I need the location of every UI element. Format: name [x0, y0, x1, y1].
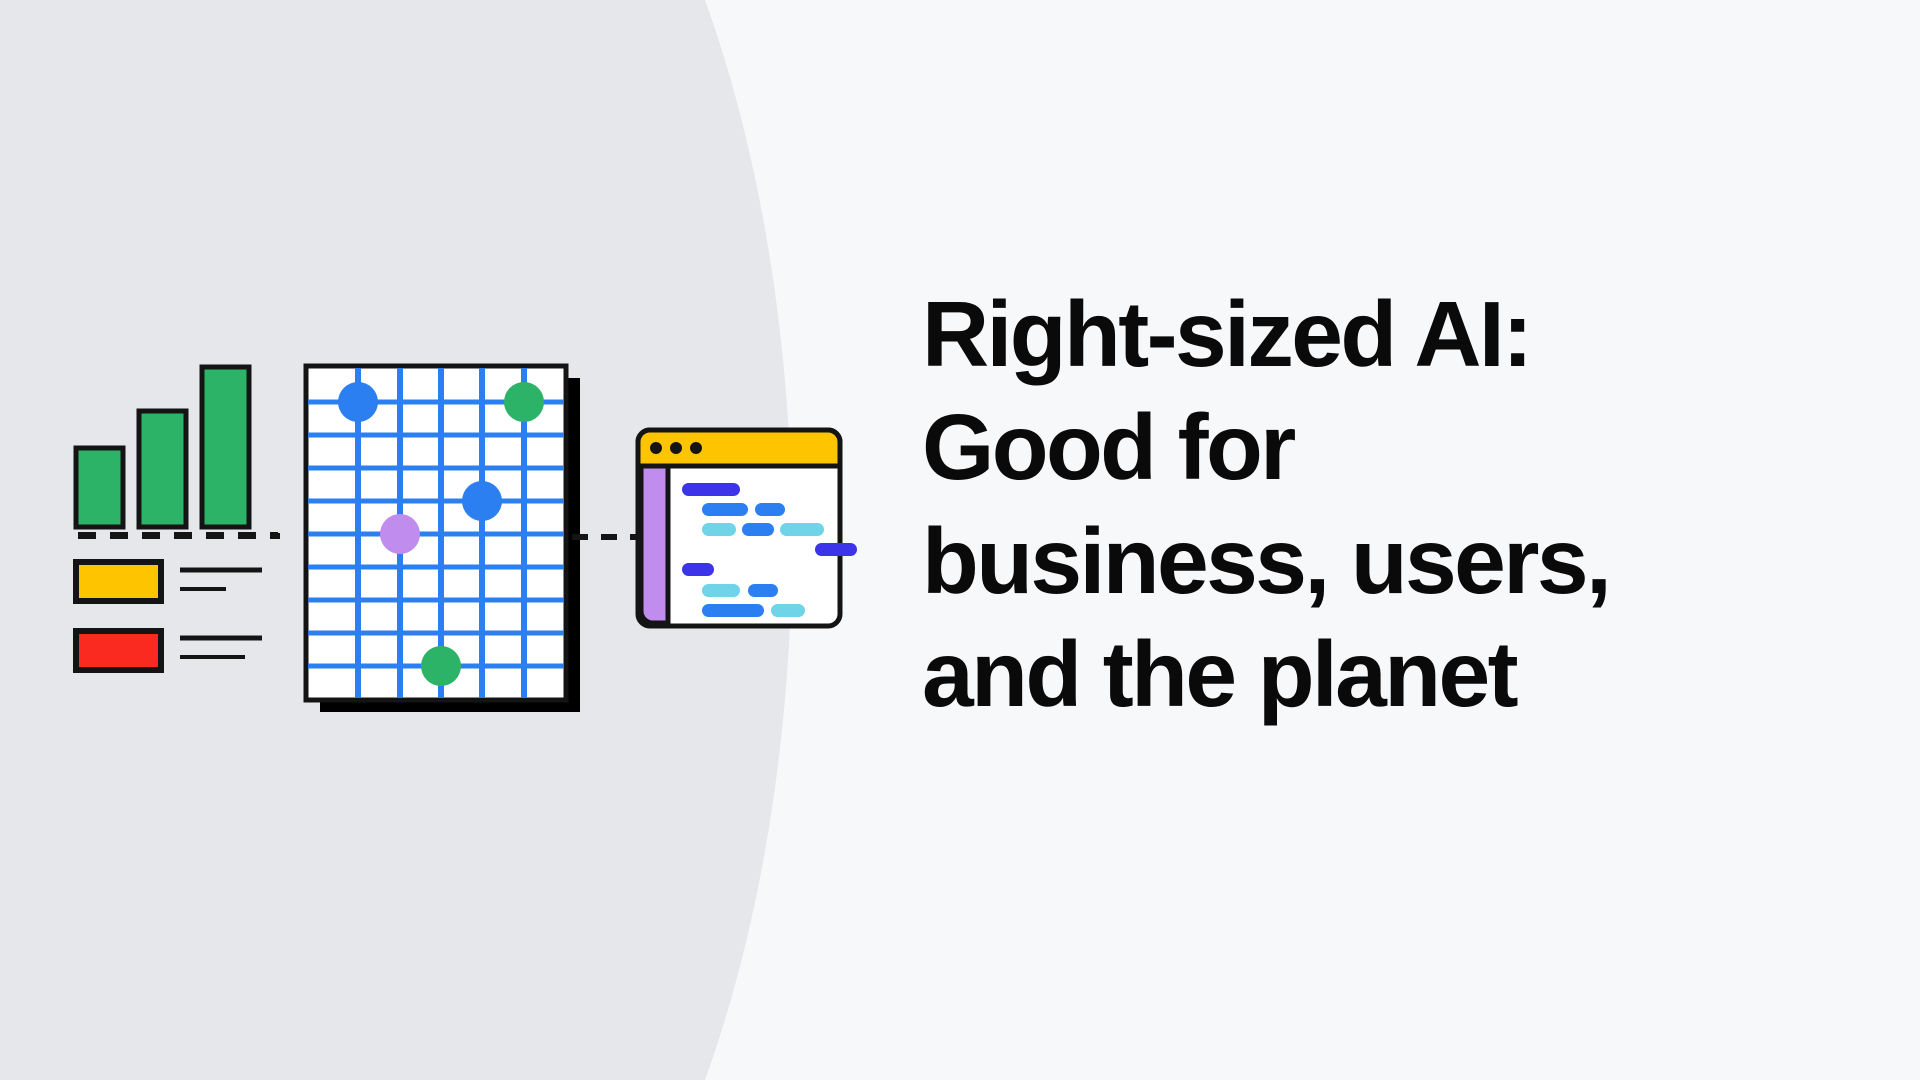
ai-efficiency-illustration: [0, 0, 880, 1080]
code-bar: [702, 584, 740, 597]
headline-line-1: Right-sized AI:: [922, 278, 1822, 391]
code-bar: [755, 503, 785, 516]
scatter-grid-card: [306, 366, 580, 712]
code-bar: [771, 604, 805, 617]
point-green-2: [421, 646, 461, 686]
code-bar: [780, 523, 824, 536]
bar-chart-bar-1: [76, 448, 123, 527]
bar-chart-bar-3: [202, 367, 249, 527]
headline-line-3: business, users,: [922, 505, 1822, 618]
code-bar: [702, 503, 748, 516]
code-bar: [742, 523, 774, 536]
window-dot-3[interactable]: [690, 442, 702, 454]
page-title: Right-sized AI: Good for business, users…: [922, 278, 1822, 732]
legend-item-yellow: [76, 562, 262, 601]
code-bar: [682, 483, 740, 496]
window-dot-1[interactable]: [650, 442, 662, 454]
point-blue-2: [462, 481, 502, 521]
window-title-bar: [638, 430, 840, 466]
code-bar: [702, 604, 764, 617]
code-bar: [748, 584, 778, 597]
window-sidebar: [641, 466, 668, 623]
code-bar: [682, 563, 714, 576]
legend-item-red: [76, 631, 262, 670]
headline-line-2: Good for: [922, 391, 1822, 504]
legend-swatches: [76, 562, 262, 670]
code-bar: [702, 523, 736, 536]
code-editor-window: [638, 430, 857, 626]
red-swatch: [76, 631, 161, 670]
hero-banner: Right-sized AI: Good for business, users…: [0, 0, 1920, 1080]
point-purple-1: [380, 514, 420, 554]
point-green-1: [504, 382, 544, 422]
green-bar-chart: [76, 367, 278, 535]
code-bar: [815, 543, 857, 556]
window-dot-2[interactable]: [670, 442, 682, 454]
headline-line-4: and the planet: [922, 618, 1822, 731]
point-blue-1: [338, 382, 378, 422]
headline-block: Right-sized AI: Good for business, users…: [922, 278, 1822, 732]
yellow-swatch: [76, 562, 161, 601]
bar-chart-bar-2: [139, 411, 186, 527]
